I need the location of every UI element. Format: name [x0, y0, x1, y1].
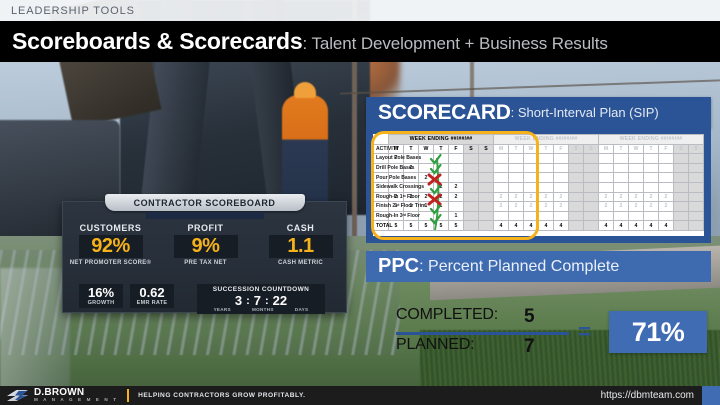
sip-cell-6-3-4 — [659, 211, 674, 221]
sip-cell-1-2-3 — [539, 163, 554, 173]
sip-cell-1-2-6 — [584, 163, 599, 173]
sip-total-3-4: 4 — [659, 221, 674, 231]
sip-cell-4-3-2: 2 — [629, 192, 644, 202]
sip-total-3-1: 4 — [614, 221, 629, 231]
metric-cash-value: 1.1 — [269, 235, 333, 258]
sip-cell-0-2-1 — [509, 154, 524, 164]
metric-profit-value: 9% — [174, 235, 238, 258]
sip-cell-0-3-3 — [644, 154, 659, 164]
sip-activity-header: ACTIVITY — [374, 144, 389, 154]
sip-day-header-3-F-4: F — [659, 144, 674, 154]
sip-cell-3-2-2 — [524, 182, 539, 192]
sip-day-header-2-S-5: S — [569, 144, 584, 154]
sip-day-header-1-S-6: S — [479, 144, 494, 154]
ppc-denominator-label: PLANNED: — [396, 336, 474, 354]
contractor-scoreboard-panel: CONTRACTOR SCOREBOARD CUSTOMERS 92% NET … — [62, 201, 347, 313]
sip-cell-5-3-6 — [689, 202, 704, 212]
sip-activity-row: Pour Pole Bases2 — [374, 173, 704, 183]
sip-cell-2-1-4 — [449, 173, 464, 183]
ppc-denominator-value: 7 — [524, 336, 535, 358]
sip-cell-6-2-1 — [509, 211, 524, 221]
countdown-days-value: 22 — [273, 294, 287, 307]
sip-day-header-2-W-2: W — [524, 144, 539, 154]
sip-cell-2-2-0 — [494, 173, 509, 183]
scoreboard-title: CONTRACTOR SCOREBOARD — [134, 198, 276, 208]
dbrown-logo-icon — [7, 389, 29, 402]
sip-cell-2-2-5 — [569, 173, 584, 183]
sip-activity-name-2: Pour Pole Bases — [374, 173, 389, 183]
sip-day-header-1-T-3: T — [434, 144, 449, 154]
sip-cell-2-3-6 — [689, 173, 704, 183]
sip-cell-4-3-5 — [674, 192, 689, 202]
slide-canvas: LEADERSHIP TOOLS Scoreboards & Scorecard… — [0, 0, 720, 405]
sip-cell-1-3-5 — [674, 163, 689, 173]
sip-cell-5-3-5 — [674, 202, 689, 212]
countdown-years-label: YEARS — [214, 307, 231, 312]
sip-cell-5-3-3: 2 — [644, 202, 659, 212]
sip-cell-0-2-3 — [539, 154, 554, 164]
sip-cell-3-3-2 — [629, 182, 644, 192]
sip-cell-2-3-2 — [629, 173, 644, 183]
sip-cell-4-2-3: 2 — [539, 192, 554, 202]
sip-cell-6-1-5 — [464, 211, 479, 221]
sip-cell-1-1-4 — [449, 163, 464, 173]
sip-cell-1-1-3 — [434, 163, 449, 173]
ppc-numerator-value: 5 — [524, 306, 535, 328]
sip-total-2-3: 4 — [539, 221, 554, 231]
sip-cell-6-1-2 — [419, 211, 434, 221]
sip-cell-6-2-3 — [539, 211, 554, 221]
ppc-denominator-row: PLANNED: 7 — [396, 336, 571, 362]
sip-cell-2-2-6 — [584, 173, 599, 183]
metric-customers: CUSTOMERS 92% NET PROMOTER SCORE® — [63, 223, 158, 268]
sip-cell-4-1-2: 2 — [419, 192, 434, 202]
sip-day-header-1-S-5: S — [464, 144, 479, 154]
sip-cell-6-2-2 — [524, 211, 539, 221]
metric-cash-caption: CASH — [253, 223, 348, 233]
sip-cell-0-3-2 — [629, 154, 644, 164]
metric-customers-sub: NET PROMOTER SCORE® — [63, 260, 158, 268]
ppc-formula: COMPLETED: 5 PLANNED: 7 = 71% — [396, 306, 716, 366]
countdown-days-label: DAYS — [295, 307, 309, 312]
sip-cell-0-1-4 — [449, 154, 464, 164]
sip-cell-3-1-5 — [464, 182, 479, 192]
sip-cell-3-2-0 — [494, 182, 509, 192]
sip-total-1-6 — [479, 221, 494, 231]
sip-cell-1-2-1 — [509, 163, 524, 173]
footer-url[interactable]: https://dbmteam.com — [601, 390, 694, 401]
sip-cell-0-2-0 — [494, 154, 509, 164]
sip-cell-0-3-6 — [689, 154, 704, 164]
sip-cell-3-1-4: 2 — [449, 182, 464, 192]
sip-table-panel: WEEK ENDING ##/##/##WEEK ENDING ##/##/##… — [366, 128, 711, 243]
metric-emr-value: 0.62 — [130, 286, 174, 300]
sip-cell-5-1-5 — [464, 202, 479, 212]
sip-cell-3-3-4 — [659, 182, 674, 192]
sip-cell-0-3-4 — [659, 154, 674, 164]
sip-day-header-2-T-1: T — [509, 144, 524, 154]
sip-cell-3-3-6 — [689, 182, 704, 192]
sip-cell-4-3-3: 2 — [644, 192, 659, 202]
sip-cell-3-3-5 — [674, 182, 689, 192]
sip-cell-4-1-5 — [464, 192, 479, 202]
ppc-header: PPC: Percent Planned Complete — [366, 251, 711, 282]
succession-countdown-values: 3 : 7 : 22 — [197, 294, 325, 307]
metric-profit-caption: PROFIT — [158, 223, 253, 233]
sip-total-1-1: 5 — [404, 221, 419, 231]
sip-day-header-2-F-4: F — [554, 144, 569, 154]
scoreboard-title-tab: CONTRACTOR SCOREBOARD — [105, 194, 305, 211]
sip-cell-2-1-6 — [479, 173, 494, 183]
sip-cell-1-1-6 — [479, 163, 494, 173]
sip-cell-3-2-6 — [584, 182, 599, 192]
sip-cell-4-2-4: 2 — [554, 192, 569, 202]
ppc-numerator-label: COMPLETED: — [396, 306, 498, 324]
sip-total-2-2: 4 — [524, 221, 539, 231]
sip-cell-2-2-2 — [524, 173, 539, 183]
sip-activity-row: Layout Pole Bases2 — [374, 154, 704, 164]
sip-cell-4-2-2: 2 — [524, 192, 539, 202]
sip-day-header-2-T-3: T — [539, 144, 554, 154]
sip-cell-5-2-0: 2 — [494, 202, 509, 212]
ppc-heading-main: PPC — [378, 255, 419, 278]
sip-day-header-row: ACTIVITYMTWTFSSMTWTFSSMTWTFSS — [374, 144, 704, 154]
sip-cell-2-2-4 — [554, 173, 569, 183]
sip-cell-4-3-6 — [689, 192, 704, 202]
sip-cell-4-3-1: 2 — [614, 192, 629, 202]
sip-cell-0-2-5 — [569, 154, 584, 164]
sip-cell-1-1-5 — [464, 163, 479, 173]
sip-activity-name-3: Sidewalk Crossings — [374, 182, 389, 192]
page-title-main: Scoreboards & Scorecards — [12, 28, 303, 54]
sip-day-header-1-F-4: F — [449, 144, 464, 154]
sip-cell-6-1-6 — [479, 211, 494, 221]
sip-cell-1-3-1 — [614, 163, 629, 173]
footer-accent-square — [702, 386, 720, 405]
sip-cell-5-1-4 — [449, 202, 464, 212]
metric-growth-label: GROWTH — [79, 300, 123, 306]
sip-day-header-1-W-2: W — [419, 144, 434, 154]
sip-cell-0-3-0 — [599, 154, 614, 164]
scorecard-heading-sub: : Short-Interval Plan (SIP) — [511, 105, 659, 120]
dbrown-logo-text: D.BROWN M A N A G E M E N T — [34, 388, 118, 403]
sip-cell-4-3-4: 2 — [659, 192, 674, 202]
countdown-separator-2: : — [265, 295, 269, 307]
page-title-sub: : Talent Development + Business Results — [303, 34, 608, 53]
sip-day-header-3-S-5: S — [674, 144, 689, 154]
sip-activity-name-4: Rough-In 1ˢᵗ Floor — [374, 192, 389, 202]
sip-day-header-1-T-1: T — [404, 144, 419, 154]
sip-cell-6-3-2 — [629, 211, 644, 221]
sip-day-header-3-S-6: S — [689, 144, 704, 154]
sip-cell-5-3-0: 2 — [599, 202, 614, 212]
sip-cell-6-3-3 — [644, 211, 659, 221]
sip-cell-4-1-6 — [479, 192, 494, 202]
sip-activity-name-5: Finish 2ⁿᵈ Floor Trim — [374, 202, 389, 212]
sip-cell-3-3-1 — [614, 182, 629, 192]
sip-day-header-3-M-0: M — [599, 144, 614, 154]
sip-cell-3-2-3 — [539, 182, 554, 192]
sip-cell-1-2-0 — [494, 163, 509, 173]
page-title: Scoreboards & Scorecards: Talent Develop… — [0, 28, 608, 55]
sip-cell-4-2-5 — [569, 192, 584, 202]
sip-activity-name-0: Layout Pole Bases — [374, 154, 389, 164]
sip-cell-0-2-4 — [554, 154, 569, 164]
sip-cell-5-2-4: 2 — [554, 202, 569, 212]
sip-cell-0-1-6 — [479, 154, 494, 164]
countdown-years-value: 3 — [235, 294, 242, 307]
sip-cell-2-1-3 — [434, 173, 449, 183]
sip-cell-0-1-3 — [434, 154, 449, 164]
sip-total-3-5 — [674, 221, 689, 231]
scoreboard-primary-metrics: CUSTOMERS 92% NET PROMOTER SCORE® PROFIT… — [63, 223, 348, 268]
sip-cell-4-1-4: 2 — [449, 192, 464, 202]
sip-cell-6-3-5 — [674, 211, 689, 221]
ppc-fraction-bar — [396, 332, 569, 335]
sip-corner-cell — [374, 135, 389, 145]
sip-week-header-3: WEEK ENDING ##/##/## — [599, 135, 704, 145]
sip-total-3-0: 4 — [599, 221, 614, 231]
ppc-result-value: 71% — [632, 317, 685, 348]
sip-total-row: TOTAL555554444444444 — [374, 221, 704, 231]
sip-total-2-4: 4 — [554, 221, 569, 231]
sip-cell-0-3-1 — [614, 154, 629, 164]
metric-growth: 16% GROWTH — [79, 284, 123, 308]
sip-cell-2-3-1 — [614, 173, 629, 183]
succession-countdown-labels: YEARS MONTHS DAYS — [197, 307, 325, 312]
sip-activity-row: Sidewalk Crossings22 — [374, 182, 704, 192]
metric-emr-label: EMR RATE — [130, 300, 174, 306]
sip-cell-1-3-3 — [644, 163, 659, 173]
sip-total-label: TOTAL — [374, 221, 389, 231]
sip-cell-1-3-0 — [599, 163, 614, 173]
sip-cell-6-2-5 — [569, 211, 584, 221]
countdown-separator-1: : — [246, 295, 250, 307]
sip-cell-0-2-6 — [584, 154, 599, 164]
sip-table-inner: WEEK ENDING ##/##/##WEEK ENDING ##/##/##… — [373, 134, 704, 236]
metric-emr: 0.62 EMR RATE — [130, 284, 174, 308]
succession-countdown-title: SUCCESSION COUNTDOWN — [197, 286, 325, 293]
sip-activity-row: Rough-In 3ʳᵈ Floor1 — [374, 211, 704, 221]
sip-cell-5-3-2: 2 — [629, 202, 644, 212]
metric-profit-sub: PRE TAX NET — [158, 260, 253, 268]
ppc-heading-sub: : Percent Planned Complete — [419, 258, 619, 276]
sip-cell-1-2-4 — [554, 163, 569, 173]
footer-divider — [127, 389, 129, 402]
metric-customers-value: 92% — [79, 235, 143, 258]
metric-customers-caption: CUSTOMERS — [63, 223, 158, 233]
metric-profit: PROFIT 9% PRE TAX NET — [158, 223, 253, 268]
sip-activity-row: Rough-In 1ˢᵗ Floor222222222222222 — [374, 192, 704, 202]
sip-total-3-3: 4 — [644, 221, 659, 231]
sip-cell-3-1-6 — [479, 182, 494, 192]
logo-subtitle: M A N A G E M E N T — [34, 398, 118, 403]
sip-cell-4-3-0: 2 — [599, 192, 614, 202]
scoreboard-accent-bar — [146, 212, 264, 219]
scorecard-heading-main: SCORECARD — [378, 101, 511, 125]
sip-total-1-4: 5 — [449, 221, 464, 231]
footer-bar: D.BROWN M A N A G E M E N T HELPING CONT… — [0, 386, 720, 405]
kicker-bar: LEADERSHIP TOOLS — [0, 0, 720, 21]
sip-total-2-5 — [569, 221, 584, 231]
sip-cell-4-2-6 — [584, 192, 599, 202]
sip-cell-5-1-3: 1 — [434, 202, 449, 212]
title-bar: Scoreboards & Scorecards: Talent Develop… — [0, 21, 720, 62]
sip-cell-2-2-3 — [539, 173, 554, 183]
sip-cell-4-2-1: 2 — [509, 192, 524, 202]
sip-cell-3-2-5 — [569, 182, 584, 192]
sip-day-header-3-T-3: T — [644, 144, 659, 154]
sip-cell-3-2-4 — [554, 182, 569, 192]
sip-cell-3-3-3 — [644, 182, 659, 192]
sip-cell-5-2-5 — [569, 202, 584, 212]
sip-cell-6-3-1 — [614, 211, 629, 221]
sip-cell-0-3-5 — [674, 154, 689, 164]
sip-cell-2-1-2: 2 — [419, 173, 434, 183]
sip-cell-2-3-0 — [599, 173, 614, 183]
sip-cell-1-2-5 — [569, 163, 584, 173]
sip-cell-4-2-0: 2 — [494, 192, 509, 202]
sip-day-header-2-S-6: S — [584, 144, 599, 154]
sip-activity-row: Finish 2ⁿᵈ Floor Trim11112222222222 — [374, 202, 704, 212]
sip-day-header-2-M-0: M — [494, 144, 509, 154]
sip-cell-6-3-6 — [689, 211, 704, 221]
sip-total-3-2: 4 — [629, 221, 644, 231]
sip-cell-6-1-4: 1 — [449, 211, 464, 221]
sip-cell-1-3-2 — [629, 163, 644, 173]
sip-total-1-3: 5 — [434, 221, 449, 231]
sip-day-header-3-W-2: W — [629, 144, 644, 154]
kicker-label: LEADERSHIP TOOLS — [11, 5, 135, 17]
construction-worker — [282, 95, 328, 205]
sip-cell-4-1-3: 2 — [434, 192, 449, 202]
sip-week-header-2: WEEK ENDING ##/##/## — [494, 135, 599, 145]
ppc-fraction: COMPLETED: 5 PLANNED: 7 — [396, 306, 571, 362]
sip-total-2-1: 4 — [509, 221, 524, 231]
sip-cell-5-2-1: 2 — [509, 202, 524, 212]
sip-cell-6-1-3 — [434, 211, 449, 221]
sip-activity-name-6: Rough-In 3ʳᵈ Floor — [374, 211, 389, 221]
sip-activity-row: Drill Pole Bases2 — [374, 163, 704, 173]
sip-total-1-5 — [464, 221, 479, 231]
ppc-result-badge: 71% — [609, 311, 707, 353]
scorecard-header: SCORECARD: Short-Interval Plan (SIP) — [366, 97, 711, 128]
sip-cell-6-2-0 — [494, 211, 509, 221]
sip-cell-2-3-4 — [659, 173, 674, 183]
sip-cell-6-3-0 — [599, 211, 614, 221]
ppc-equals-sign: = — [578, 319, 591, 345]
sip-cell-5-2-2: 2 — [524, 202, 539, 212]
sip-cell-1-1-2 — [419, 163, 434, 173]
sip-cell-5-1-6 — [479, 202, 494, 212]
sip-week-header-1: WEEK ENDING ##/##/## — [389, 135, 494, 145]
sip-cell-6-2-6 — [584, 211, 599, 221]
sip-total-2-0: 4 — [494, 221, 509, 231]
sip-day-header-3-T-1: T — [614, 144, 629, 154]
sip-cell-1-2-2 — [524, 163, 539, 173]
sip-total-1-2: 5 — [419, 221, 434, 231]
sip-cell-5-2-6 — [584, 202, 599, 212]
sip-table: WEEK ENDING ##/##/##WEEK ENDING ##/##/##… — [373, 134, 704, 231]
sip-cell-6-2-4 — [554, 211, 569, 221]
footer-tagline: HELPING CONTRACTORS GROW PROFITABLY. — [138, 392, 305, 399]
sip-cell-3-1-3: 2 — [434, 182, 449, 192]
sip-cell-2-3-5 — [674, 173, 689, 183]
succession-countdown: SUCCESSION COUNTDOWN 3 : 7 : 22 YEARS MO… — [197, 284, 325, 314]
sip-cell-1-3-4 — [659, 163, 674, 173]
metric-growth-value: 16% — [79, 286, 123, 300]
ppc-numerator-row: COMPLETED: 5 — [396, 306, 571, 332]
sip-total-3-6 — [689, 221, 704, 231]
sip-week-header-row: WEEK ENDING ##/##/##WEEK ENDING ##/##/##… — [374, 135, 704, 145]
countdown-months-value: 7 — [254, 294, 261, 307]
sip-cell-2-1-5 — [464, 173, 479, 183]
sip-cell-5-2-3: 2 — [539, 202, 554, 212]
sip-cell-2-2-1 — [509, 173, 524, 183]
sip-cell-3-3-0 — [599, 182, 614, 192]
metric-cash-sub: CASH METRIC — [253, 260, 348, 268]
sip-cell-1-3-6 — [689, 163, 704, 173]
sip-total-2-6 — [584, 221, 599, 231]
sip-cell-5-3-1: 2 — [614, 202, 629, 212]
sip-cell-3-2-1 — [509, 182, 524, 192]
sip-cell-0-2-2 — [524, 154, 539, 164]
sip-cell-0-1-5 — [464, 154, 479, 164]
sip-activity-name-1: Drill Pole Bases — [374, 163, 389, 173]
sip-cell-5-3-4: 2 — [659, 202, 674, 212]
sip-cell-2-3-3 — [644, 173, 659, 183]
metric-cash: CASH 1.1 CASH METRIC — [253, 223, 348, 268]
countdown-months-label: MONTHS — [252, 307, 274, 312]
left-railing — [0, 268, 70, 388]
scoreboard-secondary-metrics: 16% GROWTH 0.62 EMR RATE SUCCESSION COUN… — [63, 284, 348, 314]
